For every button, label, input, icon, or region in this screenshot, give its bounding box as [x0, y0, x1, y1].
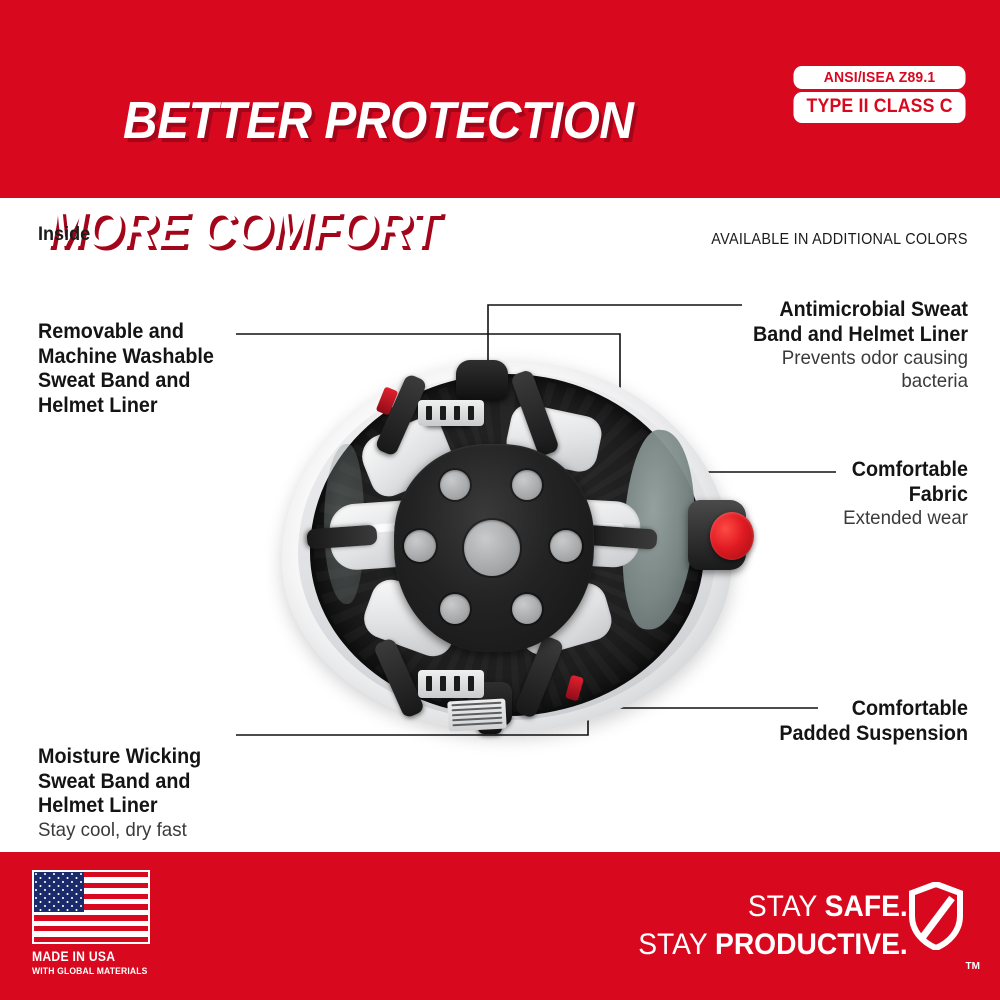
brand-tagline: STAY SAFE. STAY PRODUCTIVE. — [621, 888, 908, 964]
cradle-vent-hole — [512, 470, 542, 500]
shield-logo-icon — [908, 882, 964, 950]
cradle-vent-hole — [512, 594, 542, 624]
headline-line-1: BETTER PROTECTION — [123, 92, 633, 150]
section-label-inside: Inside — [38, 224, 90, 246]
flag-canton-stars — [34, 872, 84, 912]
interior-care-label — [447, 699, 506, 732]
footer-banner: MADE IN USA WITH GLOBAL MATERIALS STAY S… — [0, 852, 1000, 1000]
tagline-line-1: STAY SAFE. — [638, 888, 908, 926]
tagline-line-2: STAY PRODUCTIVE. — [638, 926, 908, 964]
made-in-usa-text: MADE IN USA — [32, 949, 144, 964]
callout-title: Removable and Machine Washable Sweat Ban… — [38, 320, 301, 418]
badge-ansi-standard: ANSI/ISEA Z89.1 — [793, 66, 965, 89]
callout-subtitle: Stay cool, dry fast — [38, 819, 307, 842]
header-banner: BETTER PROTECTION MORE COMFORT ANSI/ISEA… — [0, 0, 1000, 198]
headline-line-2: MORE COMFORT — [46, 202, 633, 256]
trademark-symbol: TM — [966, 961, 980, 972]
reflective-strip — [418, 400, 484, 426]
cradle-vent-hole — [550, 530, 582, 562]
with-global-materials-text: WITH GLOBAL MATERIALS — [32, 966, 144, 977]
cradle-vent-hole — [404, 530, 436, 562]
infographic-page: BETTER PROTECTION MORE COMFORT ANSI/ISEA… — [0, 0, 1000, 1000]
callout-moisture-wicking: Moisture Wicking Sweat Band and Helmet L… — [38, 745, 318, 842]
suspension-cradle — [394, 444, 594, 652]
callout-title: Antimicrobial Sweat Band and Helmet Line… — [658, 298, 968, 347]
reflective-strip — [418, 670, 484, 698]
front-buckle — [456, 360, 508, 400]
tagline-safe: SAFE. — [825, 890, 908, 923]
callout-title: Comfortable Fabric — [705, 458, 968, 507]
product-image-helmet-interior — [272, 352, 742, 742]
ratchet-adjustment-knob — [710, 512, 754, 560]
callout-title: Moisture Wicking Sweat Band and Helmet L… — [38, 745, 301, 819]
made-in-usa-badge: MADE IN USA WITH GLOBAL MATERIALS — [32, 870, 156, 977]
certification-badges: ANSI/ISEA Z89.1 TYPE II CLASS C — [787, 66, 972, 123]
cradle-vent-hole — [440, 470, 470, 500]
badge-type-class: TYPE II CLASS C — [793, 92, 965, 123]
cradle-vent-hole — [440, 594, 470, 624]
tagline-stay-1: STAY — [748, 890, 825, 923]
us-flag-icon — [32, 870, 150, 944]
cradle-vent-hole — [464, 520, 520, 576]
page-title: BETTER PROTECTION MORE COMFORT — [46, 40, 633, 364]
tagline-productive: PRODUCTIVE. — [715, 928, 908, 961]
available-colors-note: AVAILABLE IN ADDITIONAL COLORS — [712, 231, 968, 249]
tagline-stay-2: STAY — [638, 928, 715, 961]
